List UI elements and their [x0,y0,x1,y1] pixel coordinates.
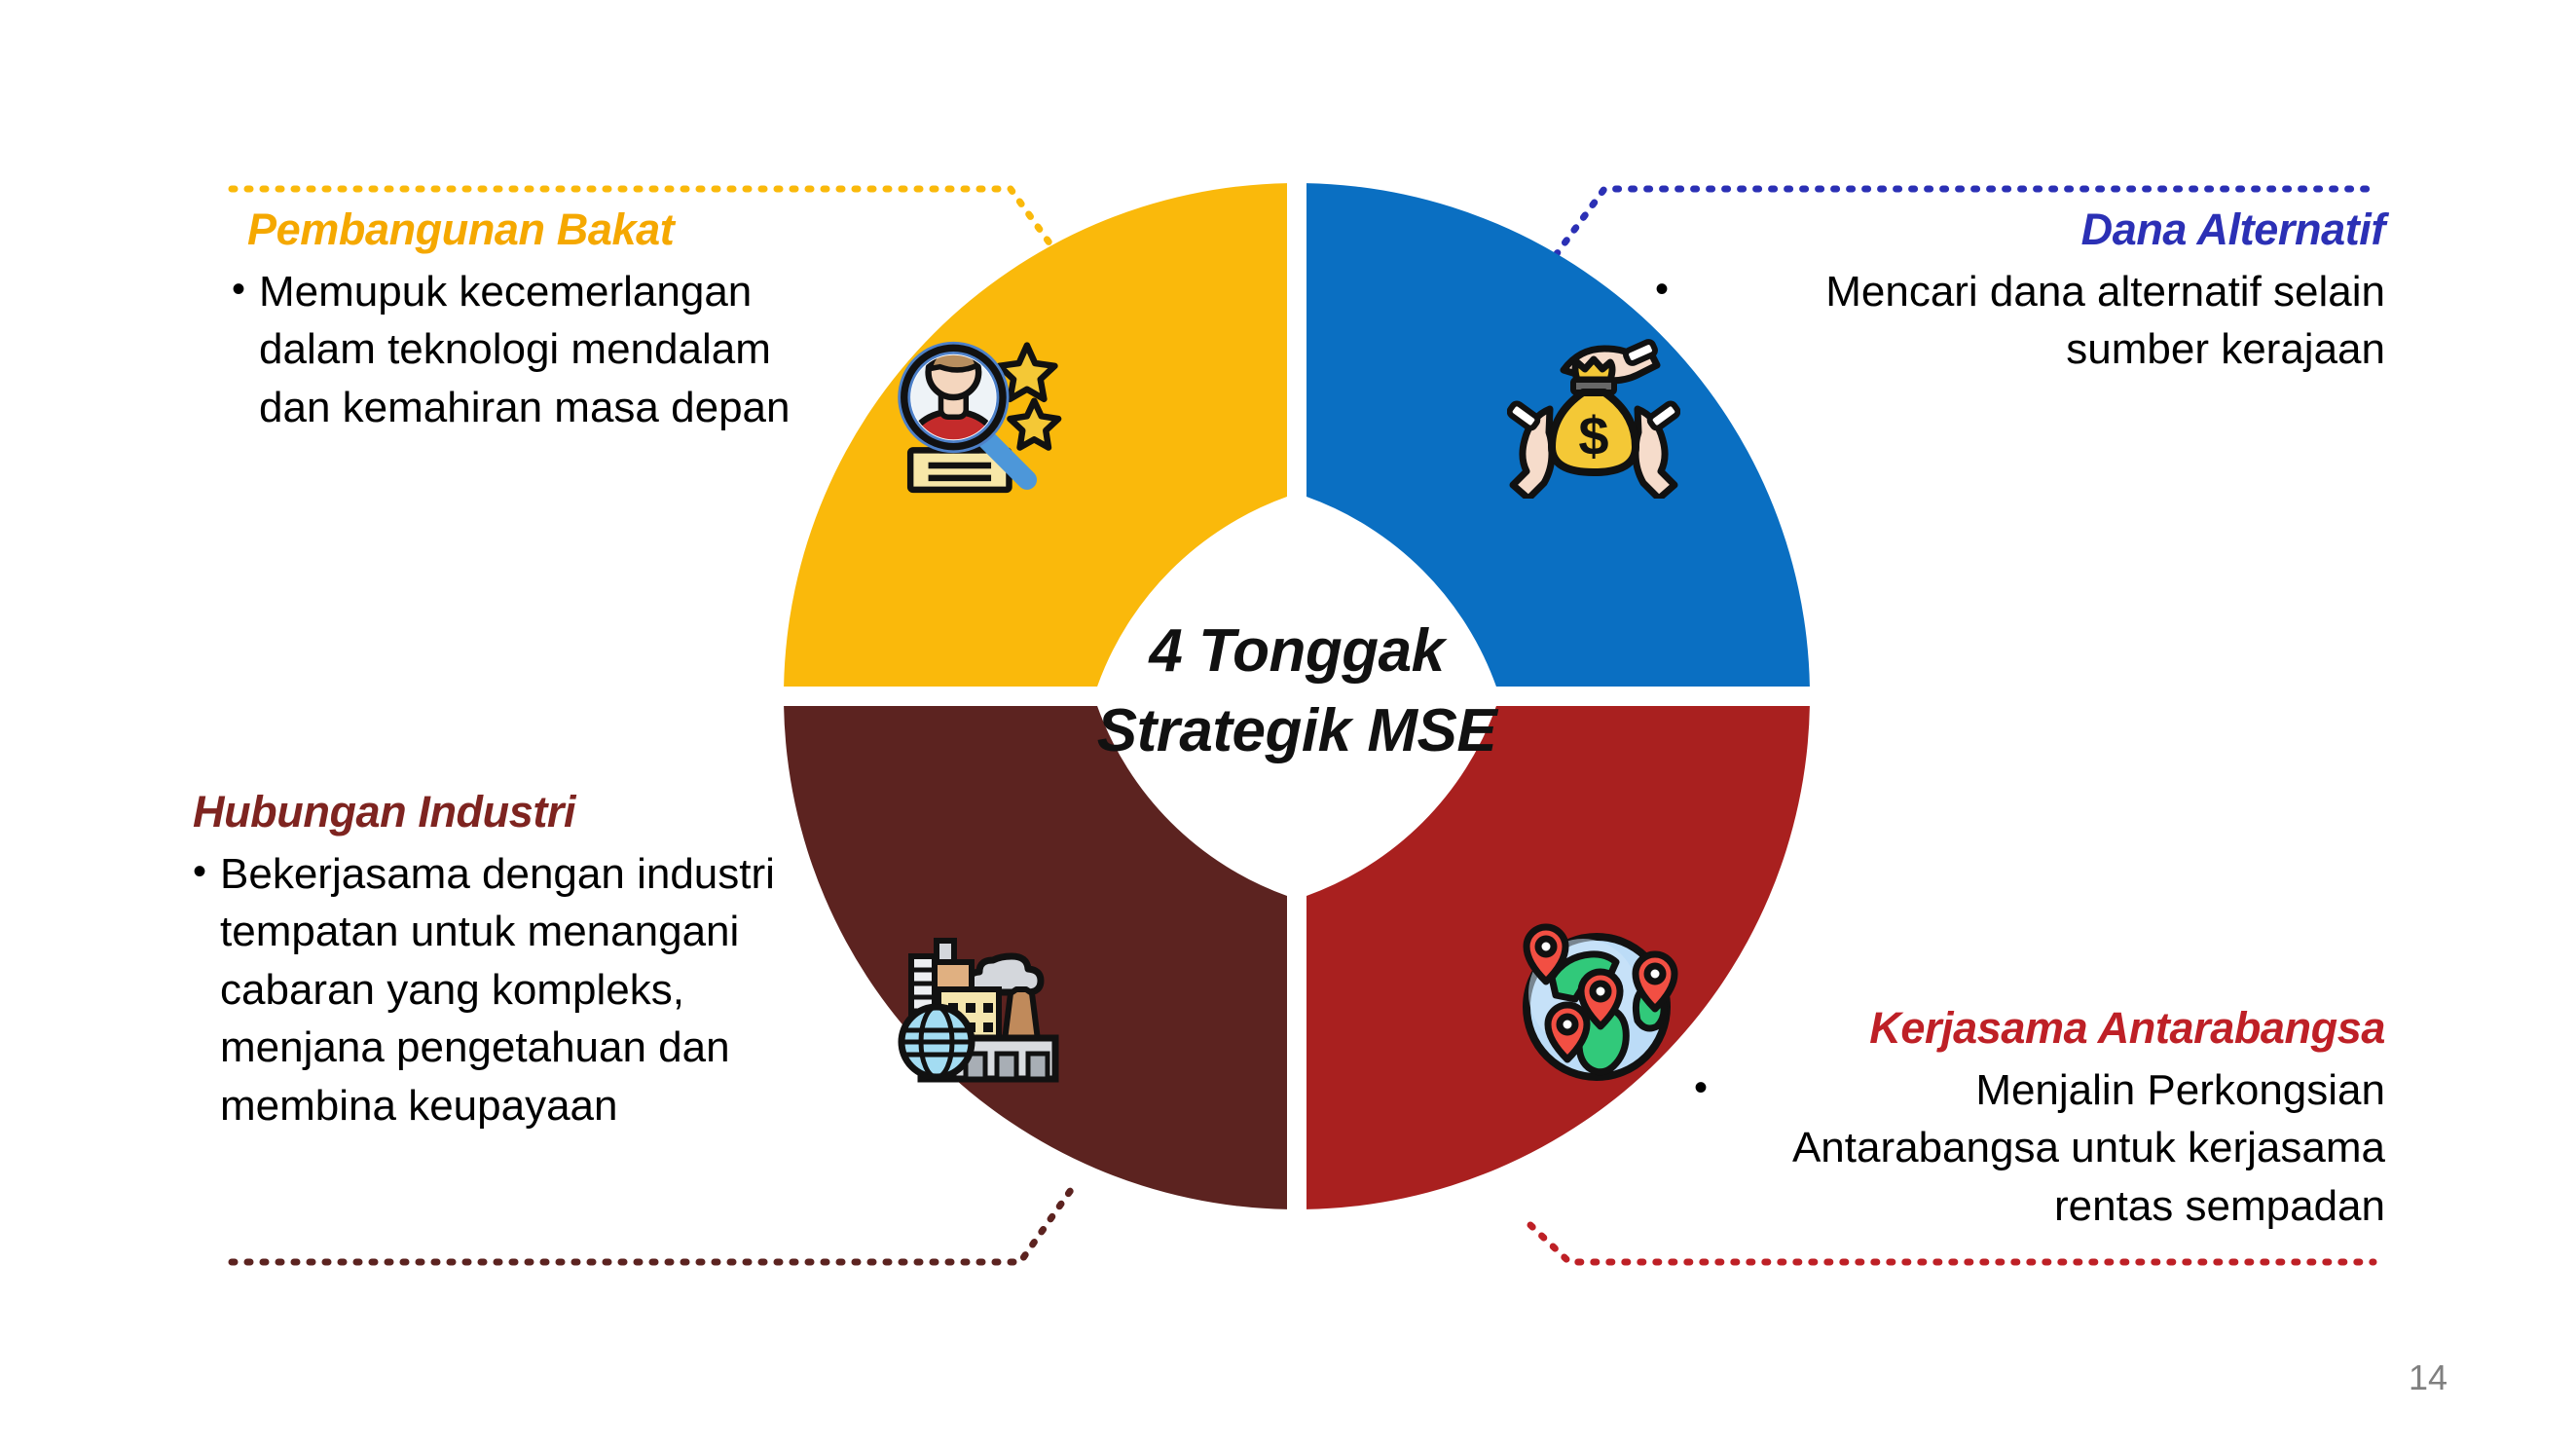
center-title-line1: 4 Tonggak [1005,612,1589,691]
quadrant-body: • Menjalin Perkongsian Antarabangsa untu… [1694,1061,2385,1235]
quadrant-hubungan-industri: Hubungan Industri • Bekerjasama dengan i… [193,787,835,1134]
quadrant-pembangunan-bakat: Pembangunan Bakat • Memupuk kecemerlanga… [232,204,826,436]
center-title: 4 Tonggak Strategik MSE [1005,612,1589,771]
quadrant-body-text: Mencari dana alternatif selain sumber ke… [1682,263,2385,379]
bullet-marker: • [1655,263,1682,379]
quadrant-title: Dana Alternatif [1655,204,2385,255]
talent-search-icon [888,329,1073,500]
center-title-line2: Strategik MSE [1005,691,1589,771]
svg-text:$: $ [1578,405,1608,466]
quadrant-dana-alternatif: Dana Alternatif • Mencari dana alternati… [1655,204,2385,379]
quadrant-title: Pembangunan Bakat [232,204,826,255]
slide-canvas: 4 Tonggak Strategik MSE [0,0,2576,1449]
bullet-marker: • [232,263,259,436]
globe-pins-icon [1507,913,1682,1087]
quadrant-kerjasama-antarabangsa: Kerjasama Antarabangsa • Menjalin Perkon… [1694,1003,2385,1235]
factory-globe-icon [884,915,1069,1083]
quadrant-body-text: Menjalin Perkongsian Antarabangsa untuk … [1721,1061,2385,1235]
quadrant-body: • Memupuk kecemerlangan dalam teknologi … [232,263,826,436]
quadrant-body: • Mencari dana alternatif selain sumber … [1655,263,2385,379]
quadrant-title: Kerjasama Antarabangsa [1694,1003,2385,1054]
quadrant-body-text: Memupuk kecemerlangan dalam teknologi me… [259,263,826,436]
quadrant-body: • Bekerjasama dengan industri tempatan u… [193,845,835,1134]
quadrant-title: Hubungan Industri [193,787,835,837]
bullet-marker: • [193,845,220,1134]
bullet-marker: • [1694,1061,1721,1235]
quadrant-body-text: Bekerjasama dengan industri tempatan unt… [220,845,835,1134]
page-number: 14 [2409,1357,2447,1398]
